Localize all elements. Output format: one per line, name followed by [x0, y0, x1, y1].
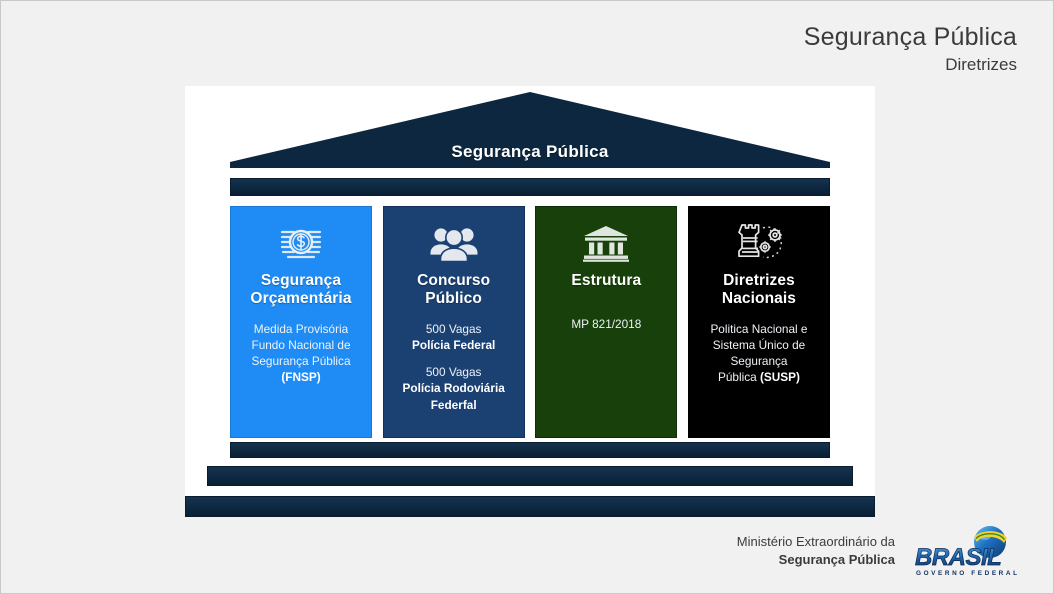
- pillar-body-bold: Polícia Federal: [412, 338, 495, 352]
- pillar-title: Estrutura: [571, 272, 641, 290]
- pillar-body-bold: (SUSP): [760, 370, 800, 384]
- pillar-title: Segurança Orçamentária: [250, 272, 351, 309]
- pillar-body2-text: 500 Vagas: [426, 365, 482, 379]
- architrave-beam: [230, 178, 830, 196]
- pillar-body: Politica Nacional e Sistema Único de Seg…: [710, 321, 807, 386]
- pillar-title: Concurso Público: [417, 272, 490, 309]
- brasil-tagline: GOVERNO FEDERAL: [916, 570, 1020, 577]
- chess-rook-gears-icon: [733, 218, 785, 268]
- pillar-body-bold: (FNSP): [281, 370, 320, 384]
- pillar-title: Diretrizes Nacionais: [722, 272, 796, 309]
- pillar-body: 500 VagasPolícia Federal: [412, 321, 495, 354]
- pillar-body: MP 821/2018: [571, 316, 641, 332]
- slide-header: Segurança Pública Diretrizes: [804, 23, 1017, 75]
- base-step-1: [230, 442, 830, 458]
- pillar-concurso-publico[interactable]: Concurso Público 500 VagasPolícia Federa…: [383, 206, 525, 438]
- pediment: Segurança Pública: [230, 92, 830, 168]
- pillar-body-text: 500 Vagas: [426, 322, 482, 336]
- diagram-card: Segurança Pública: [185, 86, 875, 516]
- footer-line-1: Ministério Extraordinário da: [737, 533, 895, 551]
- pillar-estrutura[interactable]: Estrutura MP 821/2018: [535, 206, 677, 438]
- page-subtitle: Diretrizes: [804, 55, 1017, 75]
- classical-building-icon: [583, 218, 629, 268]
- base-step-2: [207, 466, 853, 486]
- pillar-seguranca-orcamentaria[interactable]: Segurança Orçamentária Medida Provisória…: [230, 206, 372, 438]
- base-step-3: [185, 496, 875, 517]
- slide: Segurança Pública Diretrizes Segurança P…: [0, 0, 1054, 594]
- brasil-wordmark: BRASIL: [915, 544, 1001, 571]
- pediment-label: Segurança Pública: [230, 142, 830, 162]
- pillar-diretrizes-nacionais[interactable]: Diretrizes Nacionais Politica Nacional e…: [688, 206, 830, 438]
- temple-diagram: Segurança Pública: [185, 86, 875, 516]
- pillar-body2-bold: Polícia Rodoviária Federfal: [403, 381, 505, 411]
- slide-footer: Ministério Extraordinário da Segurança P…: [737, 523, 1029, 579]
- footer-line-2: Segurança Pública: [737, 551, 895, 569]
- brasil-governo-federal-logo: BRASIL GOVERNO FEDERAL: [911, 523, 1029, 579]
- money-coins-icon: [278, 218, 324, 268]
- pillars-row: Segurança Orçamentária Medida Provisória…: [230, 206, 830, 438]
- people-group-icon: [430, 218, 478, 268]
- brasil-logo-graphic: BRASIL GOVERNO FEDERAL: [911, 523, 1029, 579]
- pillar-body-text: Medida Provisória Fundo Nacional de Segu…: [251, 322, 350, 369]
- page-title: Segurança Pública: [804, 23, 1017, 52]
- pillar-body: Medida Provisória Fundo Nacional de Segu…: [251, 321, 350, 386]
- pillar-body-2: 500 VagasPolícia Rodoviária Federfal: [403, 364, 505, 413]
- pillar-body-text: MP 821/2018: [571, 317, 641, 331]
- footer-ministry: Ministério Extraordinário da Segurança P…: [737, 533, 895, 568]
